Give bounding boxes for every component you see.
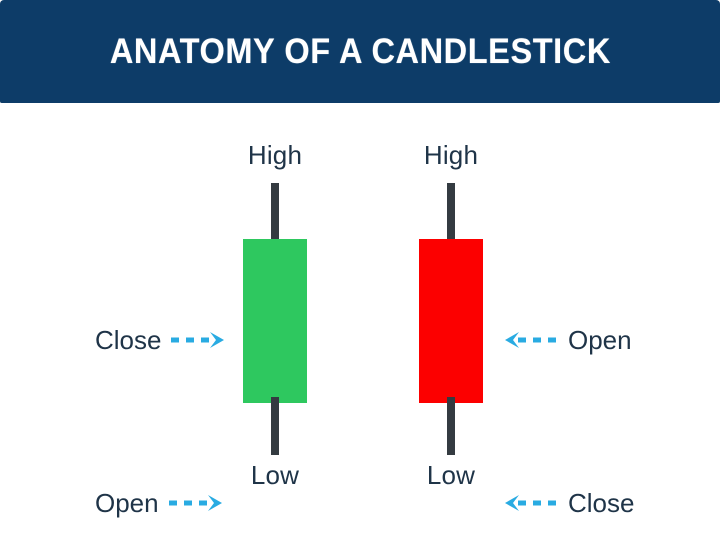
bullish-close-label: Close xyxy=(95,325,161,356)
bearish-open-label: Open xyxy=(568,325,632,356)
bullish-candle-body xyxy=(243,239,307,403)
bullish-open-annotation: Open xyxy=(95,488,230,518)
bullish-high-label: High xyxy=(180,140,370,171)
bearish-upper-wick xyxy=(447,183,455,245)
bearish-close-label: Close xyxy=(568,488,634,519)
page-title: ANATOMY OF A CANDLESTICK xyxy=(109,32,610,72)
dashed-arrow-left-icon xyxy=(497,493,559,513)
bearish-lower-wick xyxy=(447,397,455,455)
dashed-arrow-right-icon xyxy=(168,493,230,513)
bullish-candle: High Low xyxy=(180,103,370,539)
title-banner: ANATOMY OF A CANDLESTICK xyxy=(0,0,720,103)
bullish-upper-wick xyxy=(271,183,279,245)
bearish-candle-body xyxy=(419,239,483,403)
bearish-candle: High Low xyxy=(356,103,546,539)
bullish-low-label: Low xyxy=(180,460,370,491)
dashed-arrow-right-icon xyxy=(170,330,232,350)
candlestick-diagram: High Low High Low Close Open xyxy=(0,103,720,539)
bearish-close-annotation: Close xyxy=(497,488,634,518)
bearish-open-annotation: Open xyxy=(497,325,632,355)
bearish-high-label: High xyxy=(356,140,546,171)
bearish-low-label: Low xyxy=(356,460,546,491)
dashed-arrow-left-icon xyxy=(497,330,559,350)
bullish-open-label: Open xyxy=(95,488,159,519)
bullish-close-annotation: Close xyxy=(95,325,232,355)
bullish-lower-wick xyxy=(271,397,279,455)
